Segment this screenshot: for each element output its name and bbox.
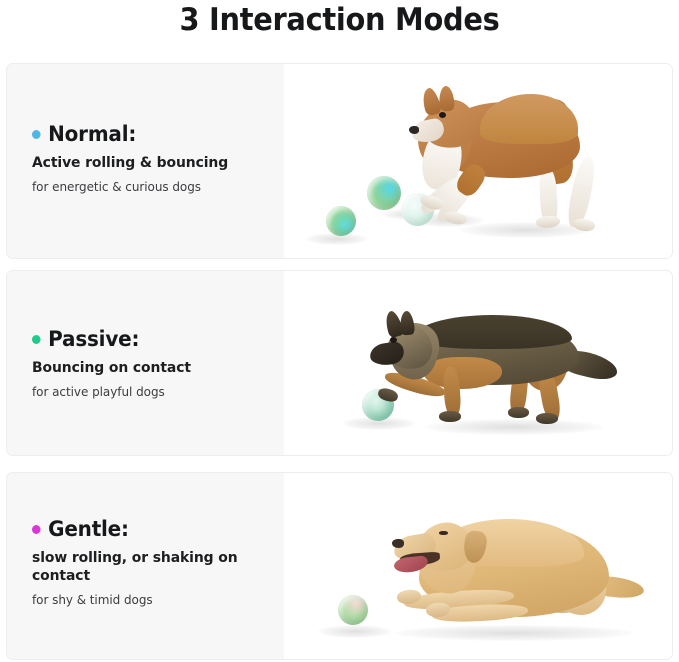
mode-note: for active playful dogs bbox=[32, 384, 264, 400]
mode-heading-passive: Passive: bbox=[32, 327, 262, 351]
mode-note: for energetic & curious dogs bbox=[32, 179, 264, 195]
interaction-modes-page: 3 Interaction Modes Normal: Active rolli… bbox=[0, 0, 679, 662]
dog-photo-labrador bbox=[284, 473, 672, 659]
mode-card-passive: Passive: Bouncing on contact for active … bbox=[6, 270, 673, 456]
dog-ear bbox=[438, 86, 455, 112]
mode-heading-gentle: Gentle: bbox=[32, 517, 262, 541]
dog-shadow bbox=[394, 625, 634, 641]
dog-photo-german-shepherd bbox=[284, 271, 672, 455]
mode-heading-label: Passive: bbox=[48, 327, 139, 351]
dog-photo-basenji bbox=[284, 64, 672, 258]
mode-text-block: Normal: Active rolling & bouncing for en… bbox=[32, 122, 274, 195]
bullet-dot-icon bbox=[32, 335, 41, 344]
dog-paw bbox=[508, 407, 529, 418]
dog-eye bbox=[390, 337, 397, 343]
bullet-dot-icon bbox=[32, 525, 41, 534]
dog-paw bbox=[439, 411, 461, 422]
mode-note: for shy & timid dogs bbox=[32, 592, 264, 608]
mode-card-normal: Normal: Active rolling & bouncing for en… bbox=[6, 63, 673, 259]
mode-text-block: Gentle: slow rolling, or shaking on cont… bbox=[32, 517, 274, 608]
toy-ball bbox=[367, 176, 401, 210]
dog-eye bbox=[439, 531, 448, 535]
toy-ball bbox=[326, 206, 356, 236]
mode-heading-label: Normal: bbox=[48, 122, 136, 146]
mode-heading-label: Gentle: bbox=[48, 517, 129, 541]
dog-ear bbox=[399, 310, 415, 335]
bullet-dot-icon bbox=[32, 130, 41, 139]
mode-text-block: Passive: Bouncing on contact for active … bbox=[32, 327, 274, 400]
toy-ball bbox=[338, 595, 368, 625]
ball-shadow bbox=[318, 625, 392, 638]
mode-heading-normal: Normal: bbox=[32, 122, 262, 146]
dog-nose bbox=[392, 539, 404, 548]
mode-description: Bouncing on contact bbox=[32, 359, 248, 377]
mode-description: Active rolling & bouncing bbox=[32, 154, 248, 172]
page-title: 3 Interaction Modes bbox=[24, 0, 655, 56]
mode-description: slow rolling, or shaking on contact bbox=[32, 549, 248, 585]
mode-card-gentle-image-panel bbox=[284, 473, 672, 659]
dog-nose bbox=[409, 126, 419, 134]
mode-card-gentle: Gentle: slow rolling, or shaking on cont… bbox=[6, 472, 673, 660]
mode-card-normal-text-panel: Normal: Active rolling & bouncing for en… bbox=[7, 64, 284, 258]
mode-card-gentle-text-panel: Gentle: slow rolling, or shaking on cont… bbox=[7, 473, 284, 659]
mode-card-passive-text-panel: Passive: Bouncing on contact for active … bbox=[7, 271, 284, 455]
dog-eye bbox=[439, 112, 446, 118]
mode-card-passive-image-panel bbox=[284, 271, 672, 455]
mode-card-normal-image-panel bbox=[284, 64, 672, 258]
dog-paw bbox=[536, 413, 558, 424]
